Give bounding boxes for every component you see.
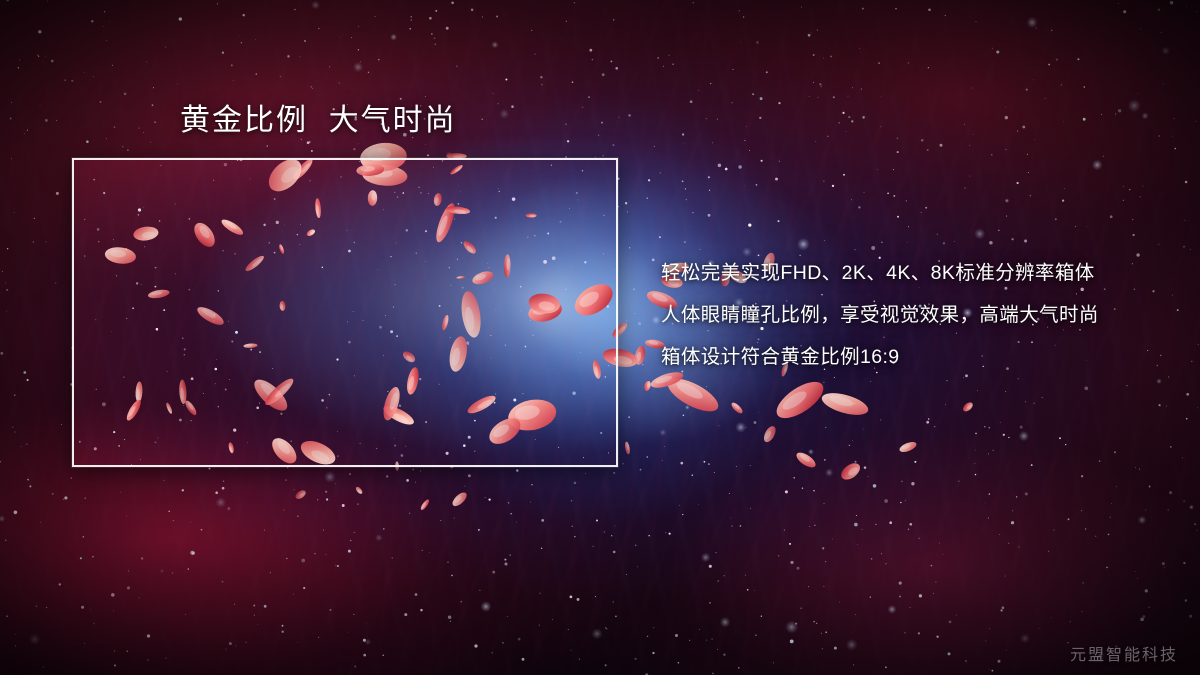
preview-frame[interactable] bbox=[72, 158, 618, 467]
body-line-1: 轻松完美实现FHD、2K、4K、8K标准分辨率箱体 bbox=[661, 252, 1161, 294]
preview-nebula bbox=[74, 160, 616, 465]
watermark: 元盟智能科技 bbox=[1070, 641, 1178, 665]
page-title: 黄金比例 大气时尚 bbox=[180, 102, 457, 140]
preview-frame-inner bbox=[74, 160, 616, 465]
preview-filaments bbox=[74, 160, 616, 465]
body-line-3: 箱体设计符合黄金比例16:9 bbox=[661, 336, 1161, 378]
body-copy: 轻松完美实现FHD、2K、4K、8K标准分辨率箱体 人体眼睛瞳孔比例，享受视觉效… bbox=[661, 252, 1161, 378]
body-line-2: 人体眼睛瞳孔比例，享受视觉效果，高端大气时尚 bbox=[661, 294, 1161, 336]
preview-petals bbox=[74, 160, 616, 465]
slide-canvas: 黄金比例 大气时尚 轻松完美实现FHD、2K、4K、8K标准分辨率箱体 人体眼睛… bbox=[0, 0, 1200, 675]
preview-core-glow bbox=[74, 160, 616, 465]
preview-starfield bbox=[74, 160, 616, 465]
